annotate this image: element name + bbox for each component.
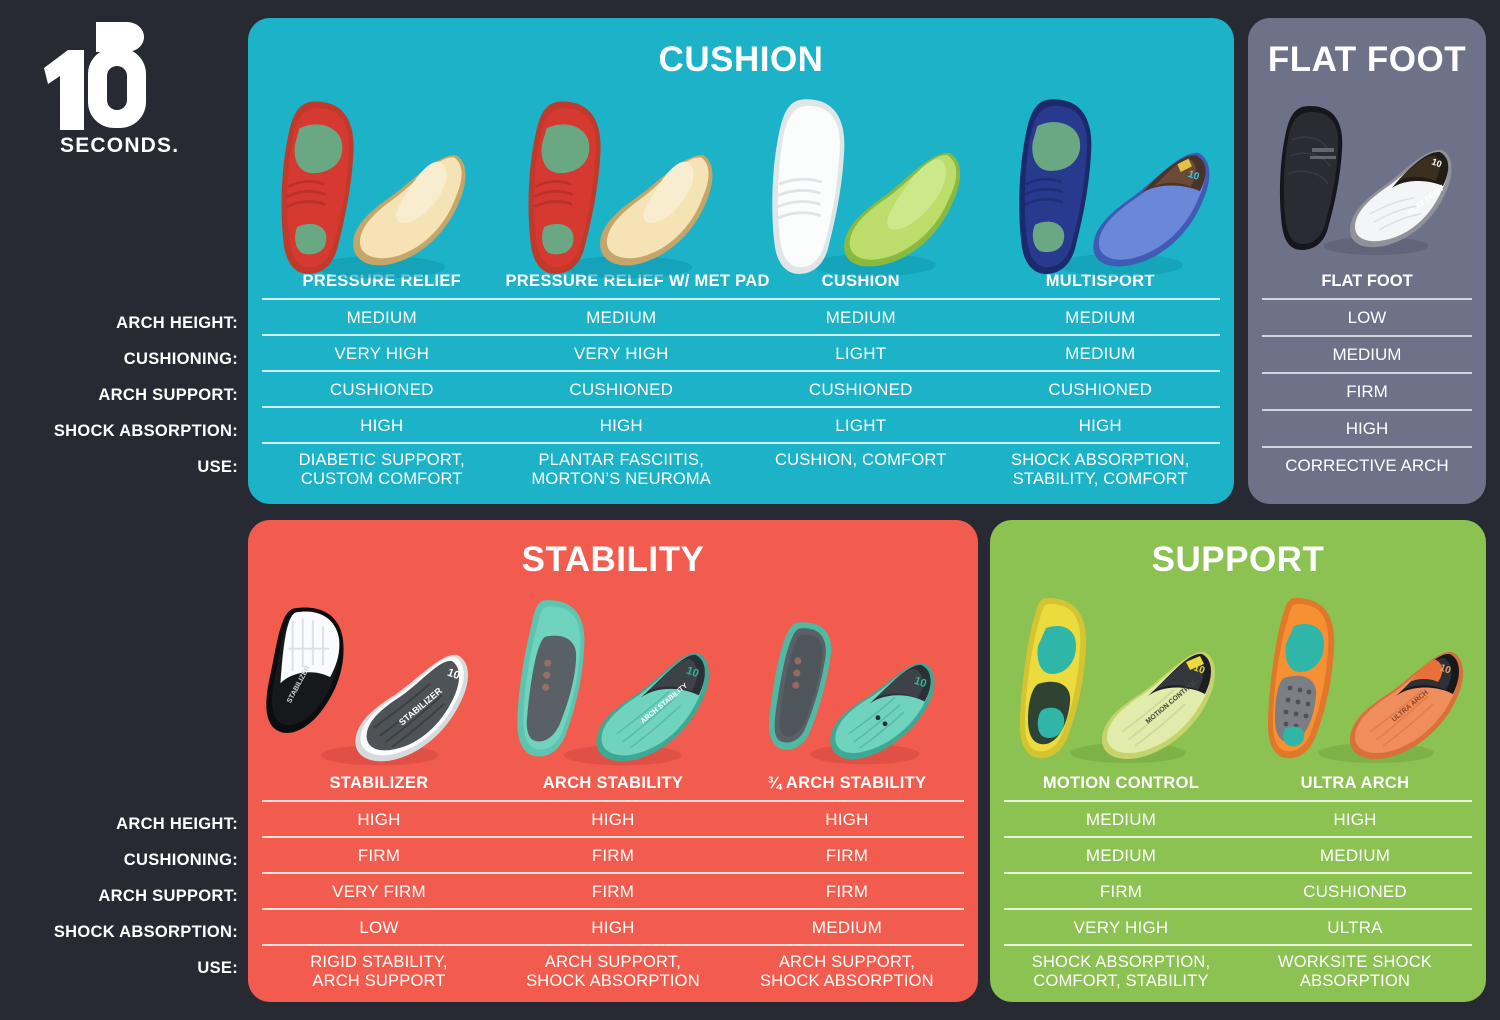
cell-arch-height: HIGH [496, 800, 730, 836]
logo-digit-zero [86, 46, 148, 130]
cell-shock-absorption: HIGH [981, 406, 1221, 442]
cell-arch-support: CUSHIONED [981, 370, 1221, 406]
cell-cushioning: LIGHT [741, 334, 981, 370]
cell-arch-support: CUSHIONED [502, 370, 742, 406]
panel-title-flat-foot: FLAT FOOT [1248, 40, 1486, 80]
column-header: ARCH STABILITY [496, 774, 730, 800]
cell-cushioning: VERY HIGH [502, 334, 742, 370]
column-pressure-relief-met-pad: PRESSURE RELIEF W/ MET PAD MEDIUM VERY H… [502, 272, 742, 495]
cell-shock-absorption: HIGH [1262, 409, 1472, 446]
cell-shock-absorption: HIGH [262, 406, 502, 442]
product-image-row-flat-foot: FLAT FOOT 10 [1248, 88, 1486, 268]
row-label-cushioning: CUSHIONING: [0, 842, 238, 878]
row-label-use: USE: [0, 449, 238, 485]
cell-shock-absorption: HIGH [502, 406, 742, 442]
row-label-shock-absorption: SHOCK ABSORPTION: [0, 914, 238, 950]
row-label-arch-height: ARCH HEIGHT: [0, 806, 238, 842]
cell-shock-absorption: MEDIUM [730, 908, 964, 944]
panel-support: SUPPORT [990, 520, 1486, 1002]
cell-arch-height: HIGH [1238, 800, 1472, 836]
cell-use: WORKSITE SHOCK ABSORPTION [1238, 944, 1472, 997]
cell-use: DIABETIC SUPPORT, CUSTOM COMFORT [262, 442, 502, 495]
cell-use: ARCH SUPPORT, SHOCK ABSORPTION [496, 944, 730, 997]
cell-shock-absorption: ULTRA [1238, 908, 1472, 944]
panel-stability: STABILITY STABILIZER [248, 520, 978, 1002]
cell-arch-height: MEDIUM [741, 298, 981, 334]
column-header: MOTION CONTROL [1004, 774, 1238, 800]
column-cushion: CUSHION MEDIUM LIGHT CUSHIONED LIGHT CUS… [741, 272, 981, 495]
insole-comparison-chart: SECONDS. ARCH HEIGHT: CUSHIONING: ARCH S… [0, 0, 1500, 1020]
cell-arch-height: MEDIUM [981, 298, 1221, 334]
product-image-three-quarter-arch-stability: 10 [735, 590, 978, 770]
row-label-arch-support: ARCH SUPPORT: [0, 377, 238, 413]
cell-use: PLANTAR FASCIITIS, MORTON’S NEUROMA [502, 442, 742, 495]
cell-cushioning: FIRM [496, 836, 730, 872]
cell-arch-support: CUSHIONED [1238, 872, 1472, 908]
panel-title-stability: STABILITY [248, 540, 978, 580]
product-image-pressure-relief [248, 88, 495, 268]
product-image-cushion [741, 88, 988, 268]
product-image-flat-foot: FLAT FOOT 10 [1248, 88, 1486, 268]
cell-use: SHOCK ABSORPTION, STABILITY, COMFORT [981, 442, 1221, 495]
product-image-multisport: 10 [988, 88, 1235, 268]
product-image-pressure-relief-met-pad [495, 88, 742, 268]
logo-digit-one [38, 46, 90, 130]
cell-arch-height: MEDIUM [1004, 800, 1238, 836]
cell-cushioning: MEDIUM [1262, 335, 1472, 372]
panel-title-support: SUPPORT [990, 540, 1486, 580]
comparison-table-flat-foot: FLAT FOOT LOW MEDIUM FIRM HIGH CORRECTIV… [1248, 272, 1486, 483]
cell-shock-absorption: VERY HIGH [1004, 908, 1238, 944]
cell-use: RIGID STABILITY, ARCH SUPPORT [262, 944, 496, 997]
row-label-arch-support: ARCH SUPPORT: [0, 878, 238, 914]
column-motion-control: MOTION CONTROL MEDIUM MEDIUM FIRM VERY H… [1004, 774, 1238, 997]
cell-use: ARCH SUPPORT, SHOCK ABSORPTION [730, 944, 964, 997]
logo-wordmark: SECONDS. [60, 134, 179, 158]
panel-title-cushion: CUSHION [248, 40, 1234, 80]
row-label-use: USE: [0, 950, 238, 986]
cell-arch-support: FIRM [730, 872, 964, 908]
column-stabilizer: STABILIZER HIGH FIRM VERY FIRM LOW RIGID… [262, 774, 496, 997]
row-label-arch-height: ARCH HEIGHT: [0, 305, 238, 341]
cell-arch-height: HIGH [730, 800, 964, 836]
column-header: ¾ ARCH STABILITY [730, 774, 964, 800]
product-image-ultra-arch: ULTRA ARCH 10 [1238, 590, 1486, 770]
column-header: FLAT FOOT [1262, 272, 1472, 298]
product-image-arch-stability: ARCH STABILITY 10 [491, 590, 734, 770]
comparison-table-support: MOTION CONTROL MEDIUM MEDIUM FIRM VERY H… [990, 774, 1486, 997]
cell-arch-height: HIGH [262, 800, 496, 836]
logo-mark [38, 22, 168, 130]
cell-cushioning: FIRM [262, 836, 496, 872]
panel-cushion: CUSHION [248, 18, 1234, 504]
comparison-table-stability: STABILIZER HIGH FIRM VERY FIRM LOW RIGID… [248, 774, 978, 997]
column-pressure-relief: PRESSURE RELIEF MEDIUM VERY HIGH CUSHION… [262, 272, 502, 495]
column-arch-stability: ARCH STABILITY HIGH FIRM FIRM HIGH ARCH … [496, 774, 730, 997]
cell-cushioning: VERY HIGH [262, 334, 502, 370]
cell-arch-support: CUSHIONED [741, 370, 981, 406]
cell-arch-support: FIRM [1262, 372, 1472, 409]
row-label-shock-absorption: SHOCK ABSORPTION: [0, 413, 238, 449]
row-labels-top: ARCH HEIGHT: CUSHIONING: ARCH SUPPORT: S… [0, 305, 238, 485]
cell-arch-support: VERY FIRM [262, 872, 496, 908]
column-multisport: MULTISPORT MEDIUM MEDIUM CUSHIONED HIGH … [981, 272, 1221, 495]
column-header: ULTRA ARCH [1238, 774, 1472, 800]
cell-arch-height: MEDIUM [502, 298, 742, 334]
cell-cushioning: MEDIUM [1004, 836, 1238, 872]
panel-flat-foot: FLAT FOOT [1248, 18, 1486, 504]
row-labels-bottom: ARCH HEIGHT: CUSHIONING: ARCH SUPPORT: S… [0, 806, 238, 986]
cell-arch-height: MEDIUM [262, 298, 502, 334]
product-image-stabilizer: STABILIZER STABILIZER 10 [248, 590, 491, 770]
product-image-motion-control: MOTION CONTROL 10 [990, 590, 1238, 770]
product-image-row-support: MOTION CONTROL 10 [990, 590, 1486, 770]
column-three-quarter-arch-stability: ¾ ARCH STABILITY HIGH FIRM FIRM MEDIUM A… [730, 774, 964, 997]
cell-arch-support: FIRM [496, 872, 730, 908]
column-header: STABILIZER [262, 774, 496, 800]
cell-use: CUSHION, COMFORT [741, 442, 981, 476]
product-image-row-cushion: 10 [248, 88, 1234, 268]
cell-shock-absorption: LIGHT [741, 406, 981, 442]
comparison-table-cushion: PRESSURE RELIEF MEDIUM VERY HIGH CUSHION… [248, 272, 1234, 495]
cell-cushioning: MEDIUM [1238, 836, 1472, 872]
cell-cushioning: FIRM [730, 836, 964, 872]
cell-use: CORRECTIVE ARCH [1262, 446, 1472, 483]
column-ultra-arch: ULTRA ARCH HIGH MEDIUM CUSHIONED ULTRA W… [1238, 774, 1472, 997]
cell-arch-support: FIRM [1004, 872, 1238, 908]
product-image-row-stability: STABILIZER STABILIZER 10 [248, 590, 978, 770]
row-label-cushioning: CUSHIONING: [0, 341, 238, 377]
cell-shock-absorption: LOW [262, 908, 496, 944]
cell-use: SHOCK ABSORPTION, COMFORT, STABILITY [1004, 944, 1238, 997]
cell-cushioning: MEDIUM [981, 334, 1221, 370]
cell-shock-absorption: HIGH [496, 908, 730, 944]
cell-arch-support: CUSHIONED [262, 370, 502, 406]
brand-logo: SECONDS. [38, 22, 208, 172]
cell-arch-height: LOW [1262, 298, 1472, 335]
